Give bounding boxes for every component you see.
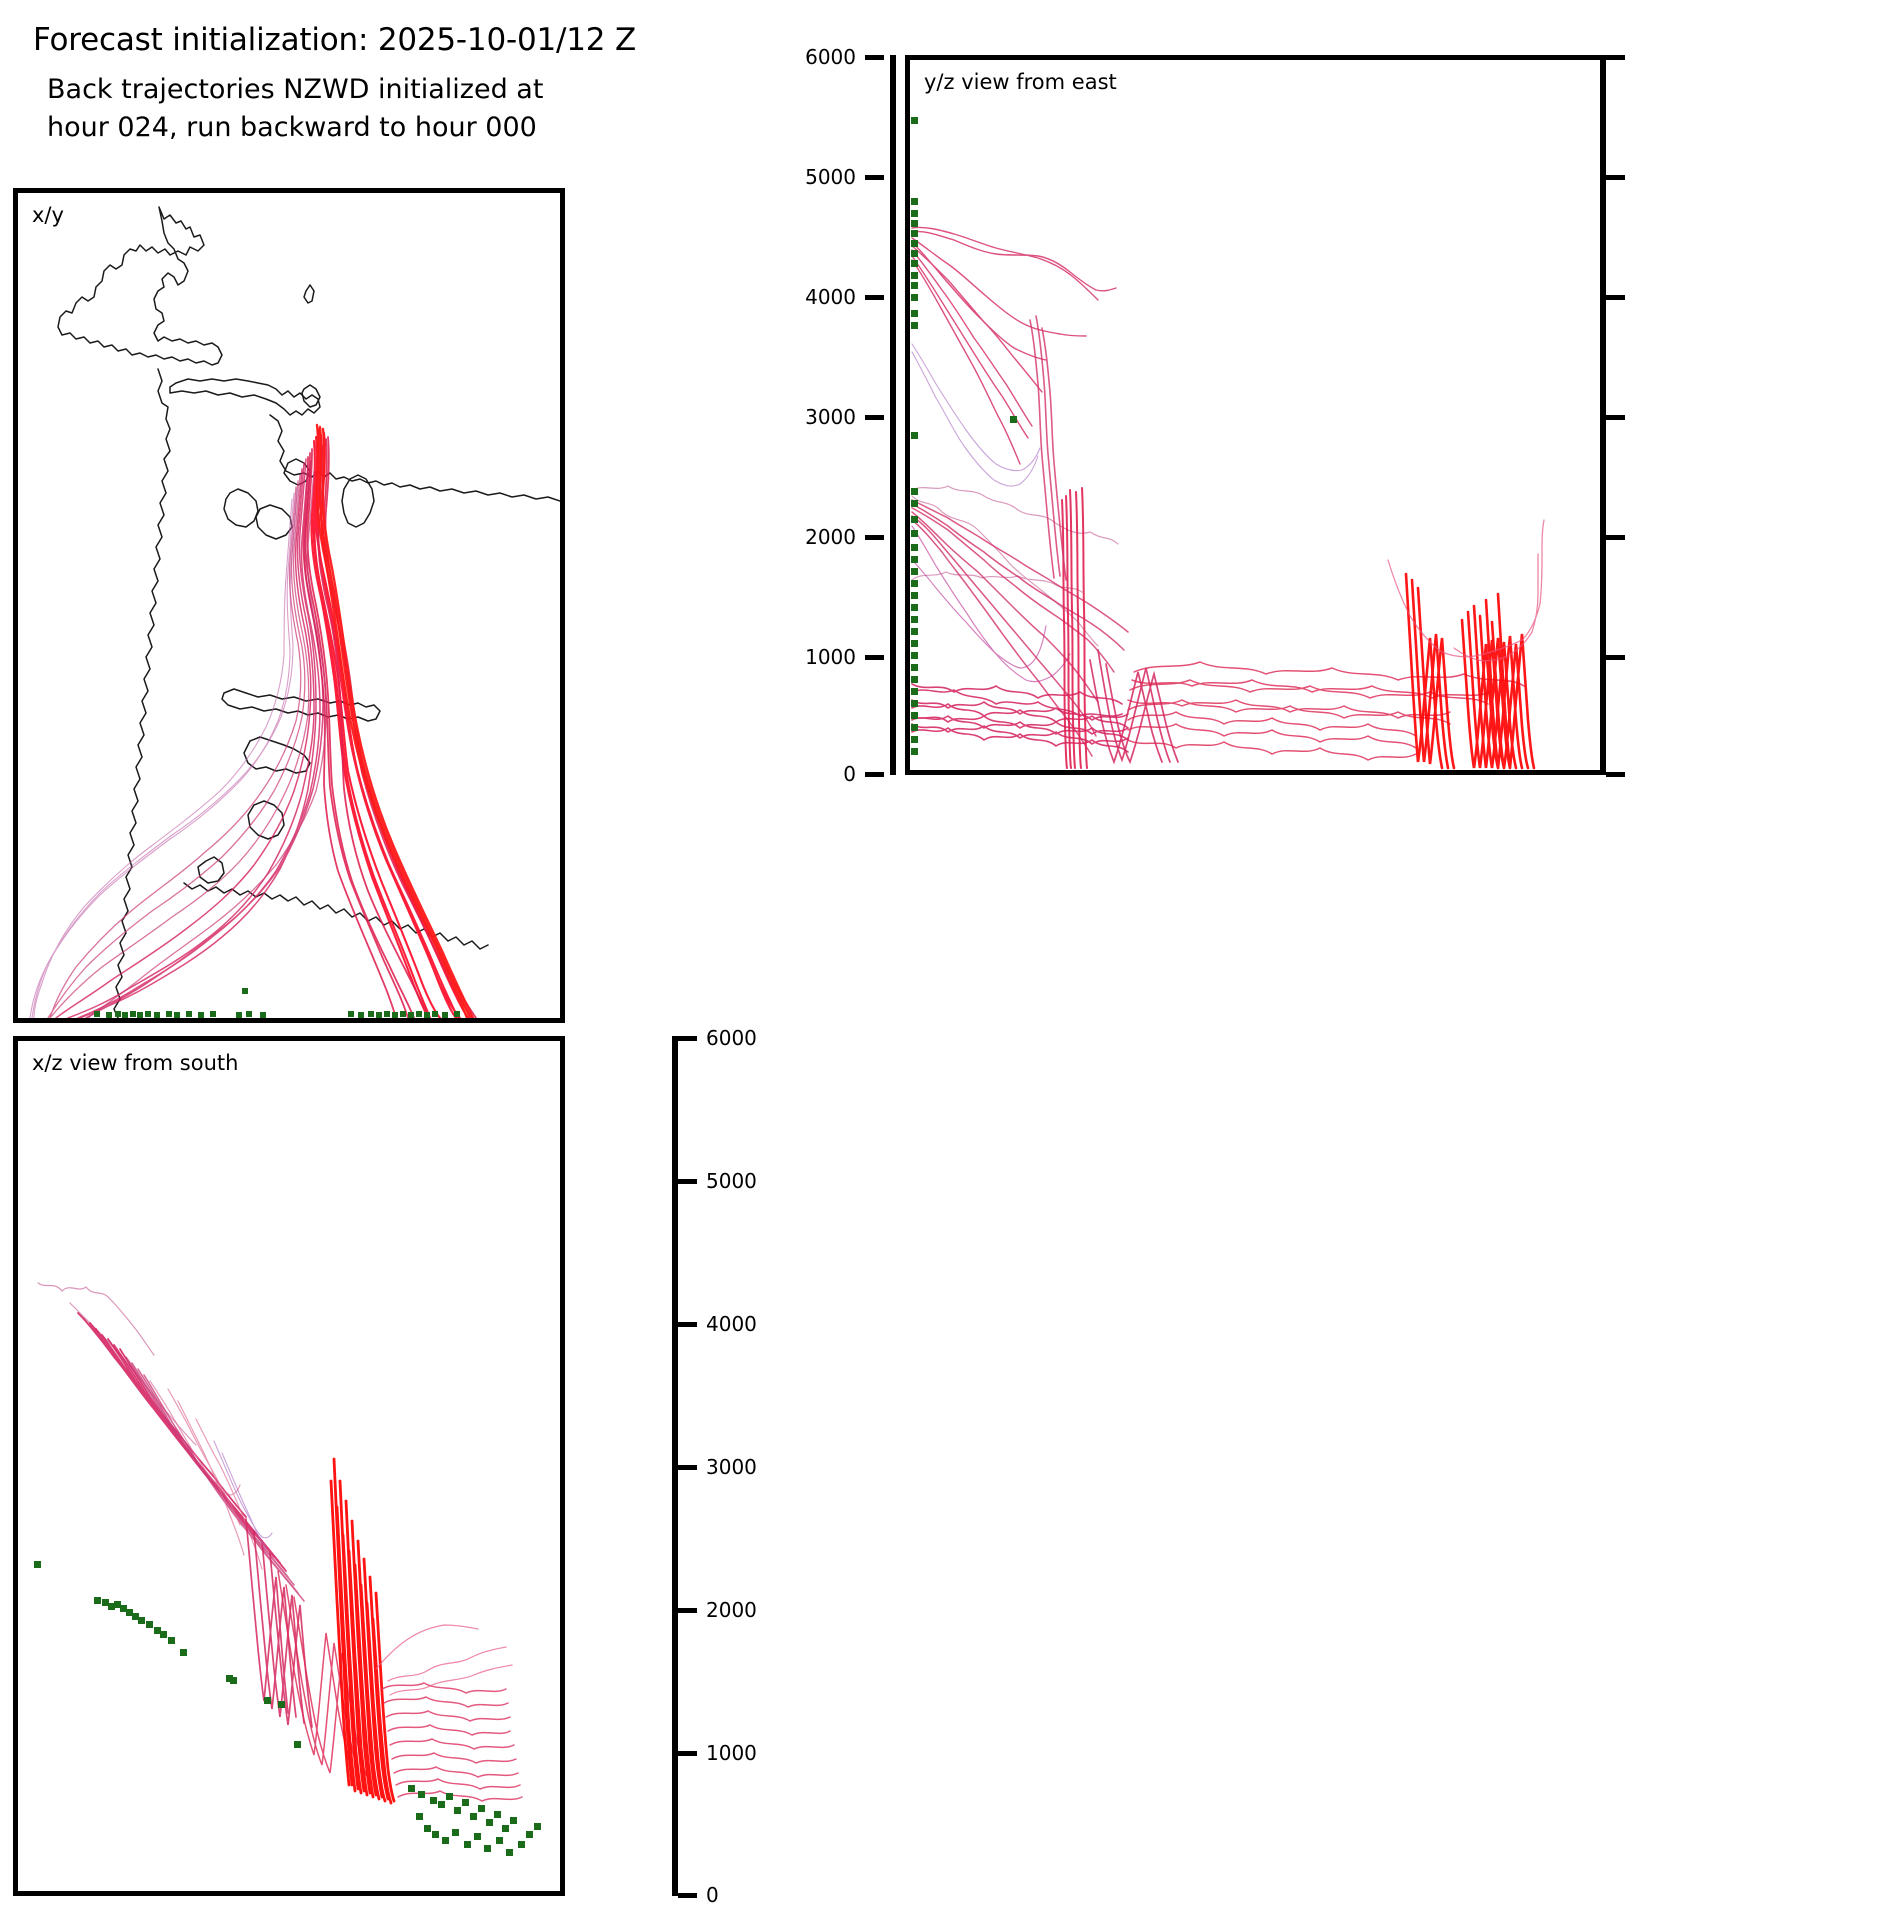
xz-tick-label-4000: 4000 [706, 1314, 757, 1334]
xz-profile-plot [18, 1041, 560, 1891]
trajectory-bundle-xz [38, 1283, 522, 1803]
coastline-west-coast [114, 369, 170, 1018]
yz-tick-5000 [865, 175, 884, 180]
xz-tick-label-2000: 2000 [706, 1600, 757, 1620]
yz-tick-label-1000: 1000 [805, 647, 856, 667]
xz-tick-1000 [678, 1751, 697, 1756]
yz-left-spine [890, 55, 896, 775]
panel-yz-profile: y/z view from east [905, 55, 1605, 775]
xz-tick-6000 [678, 1036, 697, 1041]
yz-tick-0 [865, 772, 884, 777]
yz-tick-label-0: 0 [843, 764, 856, 784]
coastline-north-island [58, 207, 222, 365]
yz-tick-1000 [865, 655, 884, 660]
coastline-bay-lobe-2 [256, 505, 292, 539]
coastline-south-bay [198, 857, 224, 883]
yz-tick-6000 [865, 55, 884, 60]
yz-tick-label-4000: 4000 [805, 287, 856, 307]
coastline-strait [222, 689, 380, 721]
header: Forecast initialization: 2025-10-01/12 Z… [0, 0, 860, 190]
panel-xz-label: x/z view from south [32, 1051, 238, 1075]
yz-tick-label-6000: 6000 [805, 47, 856, 67]
xz-tick-label-0: 0 [706, 1885, 719, 1905]
subtitle-line1: Back trajectories NZWD initialized at [47, 74, 543, 105]
yz-right-tick-5000 [1606, 175, 1625, 180]
yz-tick-label-3000: 3000 [805, 407, 856, 427]
xz-tick-label-1000: 1000 [706, 1743, 757, 1763]
yz-right-tick-1000 [1606, 655, 1625, 660]
panel-xy-map: x/y [13, 188, 565, 1023]
yz-right-tick-3000 [1606, 415, 1625, 420]
xz-tick-label-6000: 6000 [706, 1028, 757, 1048]
xz-tick-3000 [678, 1465, 697, 1470]
endpoint-markers-xy [94, 988, 460, 1018]
subtitle-line2: hour 024, run backward to hour 000 [47, 112, 537, 143]
yz-tick-label-5000: 5000 [805, 167, 856, 187]
xz-tick-0 [678, 1893, 697, 1898]
xz-tick-label-3000: 3000 [706, 1457, 757, 1477]
yz-right-tick-2000 [1606, 535, 1625, 540]
yz-right-tick-4000 [1606, 295, 1625, 300]
xz-tick-label-5000: 5000 [706, 1171, 757, 1191]
yz-tick-2000 [865, 535, 884, 540]
panel-xz-profile: x/z view from south [13, 1036, 565, 1896]
xz-tick-4000 [678, 1322, 697, 1327]
trajectory-bundle-yz [912, 227, 1544, 768]
trajectory-bundle-xy [30, 425, 476, 1018]
yz-right-tick-0 [1606, 772, 1625, 777]
yz-tick-4000 [865, 295, 884, 300]
xz-tick-5000 [678, 1179, 697, 1184]
coastline-islet-north [304, 285, 314, 303]
xz-tick-2000 [678, 1608, 697, 1613]
coastline-bay-lobe [224, 489, 258, 527]
xy-map-plot [18, 193, 560, 1018]
yz-profile-plot [910, 60, 1600, 770]
panel-xy-label: x/y [32, 203, 64, 227]
yz-tick-label-2000: 2000 [805, 527, 856, 547]
page-title: Forecast initialization: 2025-10-01/12 Z [33, 22, 636, 58]
panel-yz-label: y/z view from east [924, 70, 1117, 94]
coastline-peninsula-arm [170, 379, 320, 415]
yz-right-tick-6000 [1606, 55, 1625, 60]
yz-tick-3000 [865, 415, 884, 420]
